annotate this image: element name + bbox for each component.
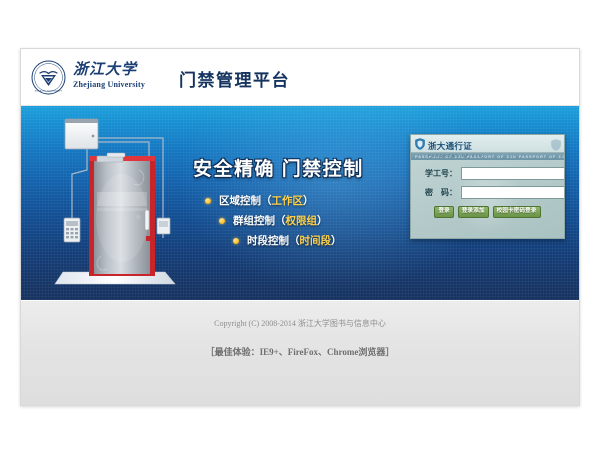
feature-label-tail: ）: [331, 233, 342, 248]
passport-title-en: PASSPORT OF ZJU: [428, 154, 483, 158]
password-label: 密 码：: [419, 187, 461, 198]
login-button[interactable]: 登录: [434, 206, 453, 218]
page-title: 门禁管理平台: [179, 66, 290, 91]
headline-block: 安全精确 门禁控制 区域控制（工作区） 群组控制（权限组） 时段控制（时间段）: [193, 154, 408, 253]
feature-label-main: 区域控制（: [219, 193, 272, 208]
feature-item-group-control: 群组控制（权限组）: [219, 213, 408, 228]
form-row-password: 密 码：: [419, 186, 556, 199]
feature-list: 区域控制（工作区） 群组控制（权限组） 时段控制（时间段）: [193, 193, 408, 248]
site-header: ZHEJIANG UNIVERSITY 浙江大学 Zhejiang Univer…: [21, 49, 579, 106]
form-row-userid: 学工号：: [419, 167, 556, 180]
hero-banner: 安全精确 门禁控制 区域控制（工作区） 群组控制（权限组） 时段控制（时间段）: [21, 106, 579, 300]
bullet-dot-icon: [205, 198, 211, 204]
site-footer: Copyright (C) 2008-2014 浙江大学图书与信息中心 ［最佳体…: [21, 300, 579, 405]
password-input[interactable]: [461, 186, 565, 199]
passport-title-cn: 浙大通行证: [428, 141, 472, 151]
footer-browser-note: ［最佳体验：IE9+、FireFox、Chrome浏览器］: [21, 329, 579, 358]
login-panel: 浙大通行证 PASSPORT OF ZJU PASSPORT OF ZJU PA…: [410, 134, 565, 239]
page-frame: ZHEJIANG UNIVERSITY 浙江大学 Zhejiang Univer…: [20, 48, 580, 406]
wordmark-en: Zhejiang University: [73, 79, 165, 90]
feature-label-sub: 时间段: [300, 233, 332, 248]
userid-label: 学工号：: [419, 168, 461, 179]
login-buttons: 登录 登录添加 校园卡密码登录: [419, 206, 556, 218]
feature-label-main: 时段控制（: [247, 233, 300, 248]
feature-label-main: 群组控制（: [233, 213, 286, 228]
login-form: 学工号： 密 码： 登录 登录添加 校园卡密码登录: [411, 160, 564, 218]
passport-header: 浙大通行证 PASSPORT OF ZJU: [411, 135, 564, 153]
bullet-dot-icon: [219, 218, 225, 224]
access-control-door-illustration-icon: [35, 114, 190, 294]
feature-label-tail: ）: [317, 213, 328, 228]
svg-text:ZHEJIANG UNIVERSITY: ZHEJIANG UNIVERSITY: [35, 90, 63, 93]
feature-item-time-control: 时段控制（时间段）: [233, 233, 408, 248]
feature-label-sub: 权限组: [286, 213, 318, 228]
feature-label-sub: 工作区: [272, 193, 304, 208]
bullet-dot-icon: [233, 238, 239, 244]
feature-label-tail: ）: [303, 193, 314, 208]
zju-seal-icon: ZHEJIANG UNIVERSITY: [31, 60, 66, 95]
feature-item-area-control: 区域控制（工作区）: [205, 193, 408, 208]
campus-card-login-button[interactable]: 校园卡密码登录: [493, 206, 541, 218]
userid-input[interactable]: [461, 167, 565, 180]
footer-copyright: Copyright (C) 2008-2014 浙江大学图书与信息中心: [21, 301, 579, 329]
shield-icon: [415, 137, 425, 149]
banner-headline: 安全精确 门禁控制: [193, 154, 408, 181]
shield-icon: [551, 138, 561, 150]
logo-wordmark: 浙江大学 Zhejiang University: [73, 62, 165, 94]
login-add-button[interactable]: 登录添加: [458, 206, 489, 218]
wordmark-cn: 浙江大学: [73, 62, 165, 79]
